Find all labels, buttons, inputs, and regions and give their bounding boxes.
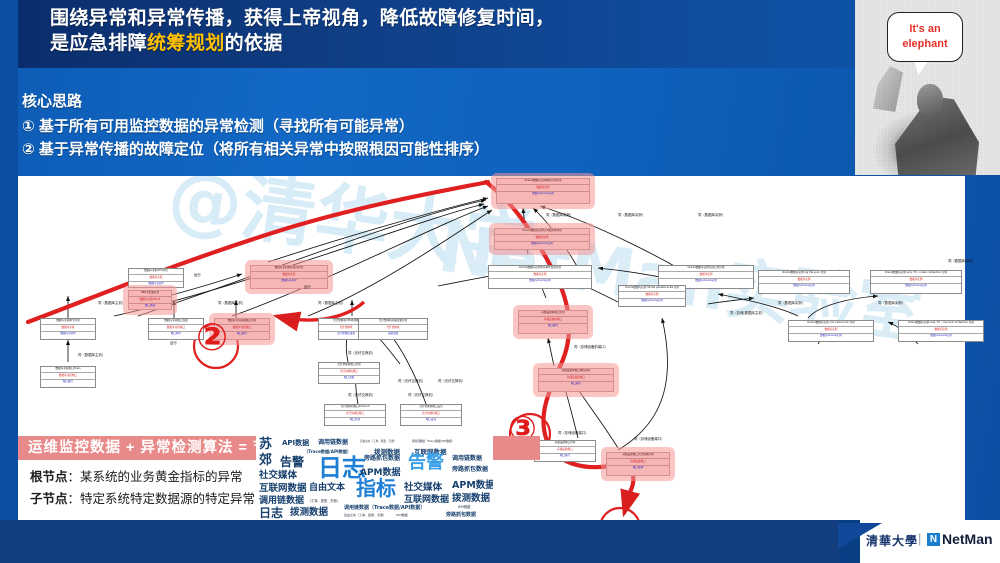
word-cloud-term: 调用链数据 <box>259 497 304 506</box>
legend-child-node: 子节点：特定系统特定数据源的特定异常 <box>30 488 255 510</box>
word-cloud-term: 互联网数据 <box>259 484 307 494</box>
core-idea-block: 核心思路 ① 基于所有可用监控数据的异常检测（寻找所有可能异常） ② 基于异常传… <box>22 90 722 161</box>
edge-label: 同（数据库实例） <box>878 300 905 305</box>
title-line-2-suffix: 的依据 <box>225 33 283 54</box>
word-cloud-term: 指标 <box>356 478 396 498</box>
netman-logo-icon: N <box>927 533 940 546</box>
word-cloud-term: API数据 <box>458 506 470 509</box>
footer-left-band <box>0 520 840 563</box>
word-cloud-term: API数据 <box>282 440 309 447</box>
legend-definitions: 根节点：某系统的业务黄金指标的异常 子节点：特定系统特定数据源的特定异常 <box>30 466 255 510</box>
word-cloud-term: 自由文本 <box>309 484 345 493</box>
word-cloud-term: 调用链数据（Trace数据/API数据） <box>412 441 454 444</box>
word-cloud-term: 自由文本（工单、变更、手册） <box>360 441 396 444</box>
word-cloud-term: （工单、变更、手册） <box>308 500 340 503</box>
legend-root-label: 根节点 <box>30 470 68 484</box>
edge-label: 同（数据库主机） <box>218 300 245 305</box>
word-cloud-term: 调用链数据（Trace数据/API数据） <box>344 506 425 511</box>
core-idea-heading: 核心思路 <box>22 90 722 113</box>
edge-label: 同（数据库实例） <box>698 212 725 217</box>
word-cloud-term: APM数据 <box>452 481 493 491</box>
word-cloud-term: 苏 <box>259 438 272 451</box>
edge-label: 同（数据库实例） <box>618 212 645 217</box>
legend-block: 运维监控数据 + 异常检测算法 = 节点 根节点：某系统的业务黄金指标的异常 子… <box>18 436 965 520</box>
edge-label: 同（数据库实例） <box>778 300 805 305</box>
left-accent-bar <box>0 0 18 563</box>
word-cloud-term: 社交媒体 <box>404 483 442 493</box>
edge-label: 同（存储,数据库主机） <box>730 310 765 315</box>
word-cloud-term: 自由文本（工单、变更、手册） <box>344 514 386 517</box>
word-cloud-term: 郊 <box>259 454 272 467</box>
data-source-word-cloud: API数据调用链数据自由文本（工单、变更、手册）调用链数据（Trace数据/AP… <box>256 436 493 520</box>
tsinghua-logo: 清華大學 <box>866 532 918 549</box>
word-cloud-term: 拨测数据 <box>290 508 328 518</box>
netman-logo-text: NetMan <box>942 531 993 547</box>
edge-label: 运行 <box>170 340 177 345</box>
word-cloud-term: 调用链数据 <box>452 456 482 462</box>
edge-label: 同（光纤交换机） <box>438 378 465 383</box>
word-cloud-term: 告警 <box>408 454 444 472</box>
edge-label: 同（光纤交换机） <box>348 350 375 355</box>
elephant-image: It's an elephant <box>855 0 1000 175</box>
page-title: 围绕异常和异常传播，获得上帝视角，降低故障修复时间， 是应急排障统筹规划的依据 <box>50 6 750 56</box>
bubble-line-1: It's an <box>909 22 940 37</box>
edge-label: 同（数据库主机） <box>98 300 125 305</box>
core-idea-item-2: ② 基于异常传播的故障定位（将所有相关异常中按照根因可能性排序） <box>22 138 722 161</box>
word-cloud-term: 日志 <box>259 507 283 519</box>
word-cloud-term: 告警 <box>280 456 304 468</box>
word-cloud-term: 拨测数据 <box>452 494 490 504</box>
step-marker: ② <box>196 318 228 356</box>
legend-root-text: ：某系统的业务黄金指标的异常 <box>68 470 243 484</box>
word-cloud-term: 社交媒体 <box>259 471 297 481</box>
edge-label: 运行 <box>194 272 201 277</box>
edge-label: 同（数据库主机） <box>78 352 105 357</box>
word-cloud-term: 互联网数据 <box>404 496 449 505</box>
edge-label: 同（光纤交换机） <box>348 392 375 397</box>
legend-root-node: 根节点：某系统的业务黄金指标的异常 <box>30 466 255 488</box>
edge-label: 同（数据库实例） <box>546 212 573 217</box>
edge-label: 同（数据库实例） <box>948 258 975 263</box>
title-highlight: 统筹规划 <box>147 33 225 54</box>
word-cloud-term: 旁路抓包数据 <box>364 456 400 462</box>
speech-bubble: It's an elephant <box>887 12 963 62</box>
word-cloud-term: 旁路抓包数据 <box>446 513 476 518</box>
legend-child-label: 子节点 <box>30 492 68 506</box>
edge-label: 同（光纤交换机） <box>408 392 435 397</box>
edge-label: 同（存储设备端口） <box>558 430 589 435</box>
slide-root: 围绕异常和异常传播，获得上帝视角，降低故障修复时间， 是应急排障统筹规划的依据 … <box>0 0 1000 563</box>
legend-child-text: ：特定系统特定数据源的特定异常 <box>68 492 256 506</box>
word-cloud-term: API数据 <box>396 514 408 517</box>
edge-label: 同（数据库主机） <box>318 300 345 305</box>
word-cloud-term: 旁路抓包数据 <box>452 467 488 473</box>
edge-label: 同（存储设备前端口） <box>574 344 608 349</box>
core-idea-item-1: ① 基于所有可用监控数据的异常检测（寻找所有可能异常） <box>22 115 722 138</box>
word-cloud-term: 调用链数据 <box>318 440 348 446</box>
bubble-line-2: elephant <box>902 37 947 52</box>
title-line-2-prefix: 是应急排障 <box>50 33 147 54</box>
edge-label: 同（光纤交换机） <box>398 378 425 383</box>
logo-divider: | <box>918 531 921 546</box>
title-line-1: 围绕异常和异常传播，获得上帝视角，降低故障修复时间， <box>50 8 554 29</box>
edge-label: 运行 <box>304 284 311 289</box>
